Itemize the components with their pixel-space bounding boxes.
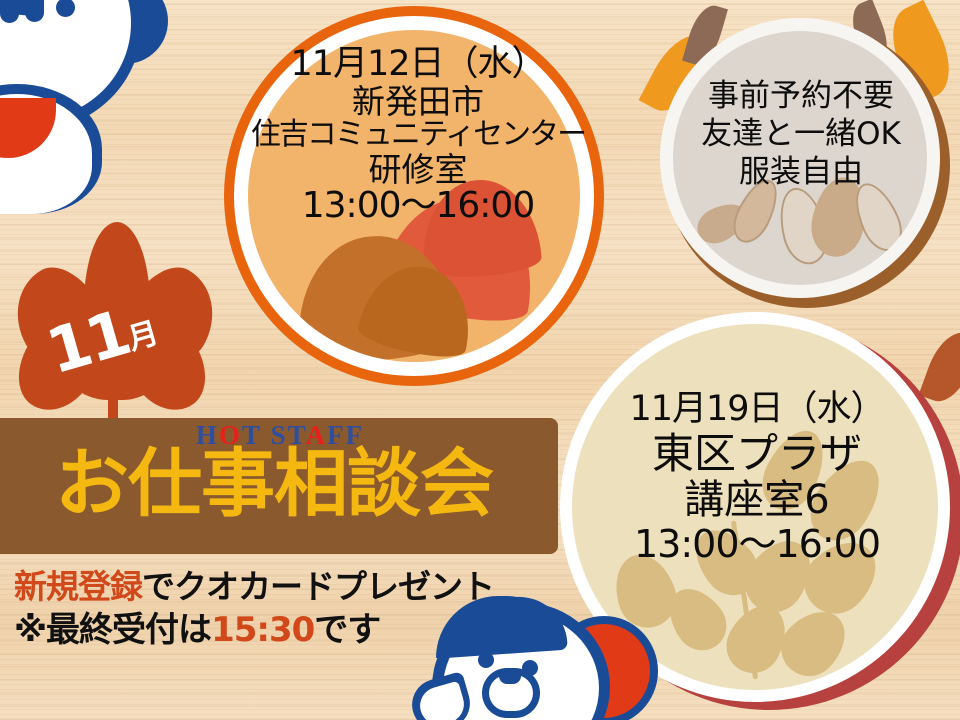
- conditions-list: 事前予約不要 友達と一緒OK 服装自由: [666, 78, 936, 191]
- event-1-date: 11月12日（水）: [248, 46, 588, 84]
- event-2-date: 11月19日（水）: [572, 390, 942, 430]
- note-reception-suffix: です: [314, 610, 380, 650]
- condition-line-3: 服装自由: [666, 154, 936, 192]
- event-2-room: 講座室6: [572, 478, 942, 524]
- event-1-venue: 住吉コミュニティセンター: [248, 119, 588, 151]
- note-reception-time: 15:30: [211, 610, 314, 650]
- note-reception-prefix: ※最終受付は: [14, 610, 211, 650]
- mascot-b-nose: [499, 668, 521, 684]
- event-1-time: 13:00〜16:00: [248, 187, 588, 226]
- mascot-b-eye-left: [478, 652, 494, 668]
- maple-leaf-badge: 11月: [12, 222, 222, 437]
- event-1-details: 11月12日（水） 新発田市 住吉コミュニティセンター 研修室 13:00〜16…: [248, 46, 588, 226]
- mascot-character-top-left: [0, 0, 204, 216]
- note-campaign-highlight: 新規登録: [14, 567, 142, 606]
- event-1-city: 新発田市: [248, 84, 588, 120]
- event-2-venue: 東区プラザ: [572, 430, 942, 478]
- event-2-time: 13:00〜16:00: [572, 523, 942, 566]
- page-title: お仕事相談会: [4, 447, 544, 522]
- event-2-details: 11月19日（水） 東区プラザ 講座室6 13:00〜16:00: [572, 390, 942, 567]
- condition-line-2: 友達と一緒OK: [666, 116, 936, 154]
- note-last-reception: ※最終受付は15:30です: [14, 602, 544, 651]
- poster-canvas: 11月12日（水） 新発田市 住吉コミュニティセンター 研修室 13:00〜16…: [0, 0, 960, 720]
- note-campaign-rest: でクオカードプレゼント: [142, 567, 494, 606]
- note-campaign: 新規登録でクオカードプレゼント: [14, 560, 544, 608]
- event-1-room: 研修室: [248, 152, 588, 188]
- condition-line-1: 事前予約不要: [666, 78, 936, 116]
